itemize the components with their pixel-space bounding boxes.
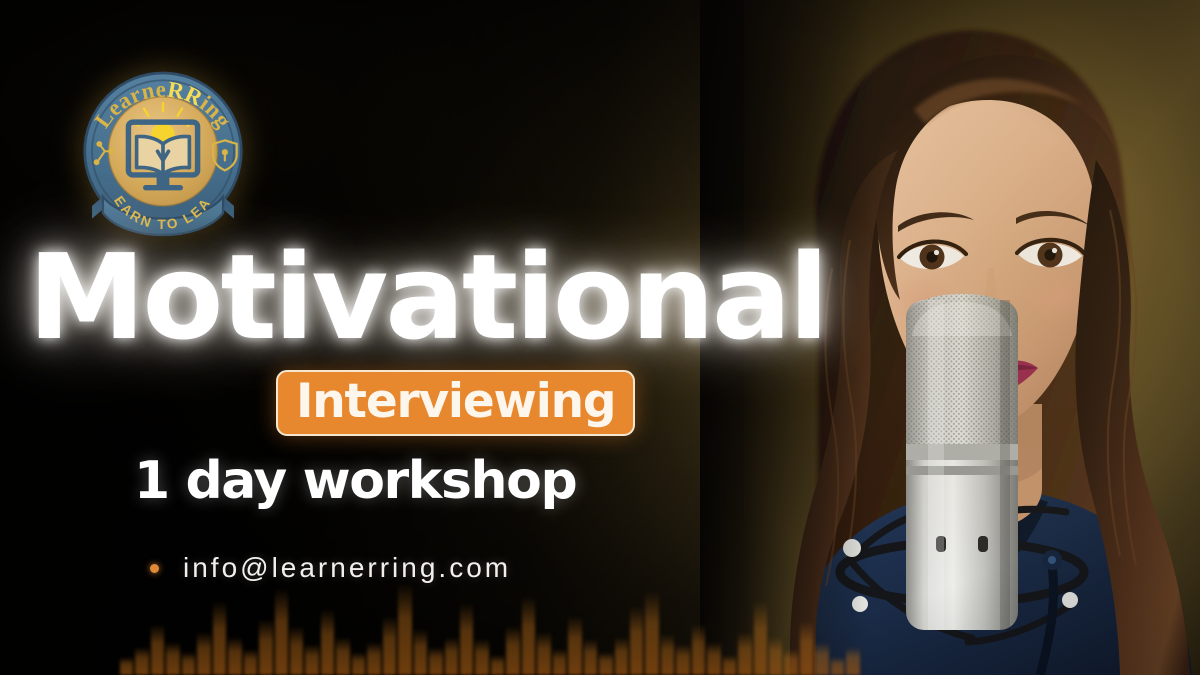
highlight-chip: Interviewing [276,370,635,436]
bullet-dot-icon [150,564,159,573]
page-title: Motivational [28,238,808,356]
headline-block: Motivational [28,238,808,356]
highlight-chip-row: Interviewing [276,370,635,436]
workshop-subtitle: 1 day workshop [134,455,576,507]
highlight-label: Interviewing [296,378,615,425]
open-book-icon [137,136,190,174]
learnerring-logo[interactable]: LearneRRing [72,60,254,248]
promo-banner: LearneRRing [0,0,1200,675]
contact-row: info@learnerring.com [150,552,511,584]
contact-email[interactable]: info@learnerring.com [183,552,511,584]
